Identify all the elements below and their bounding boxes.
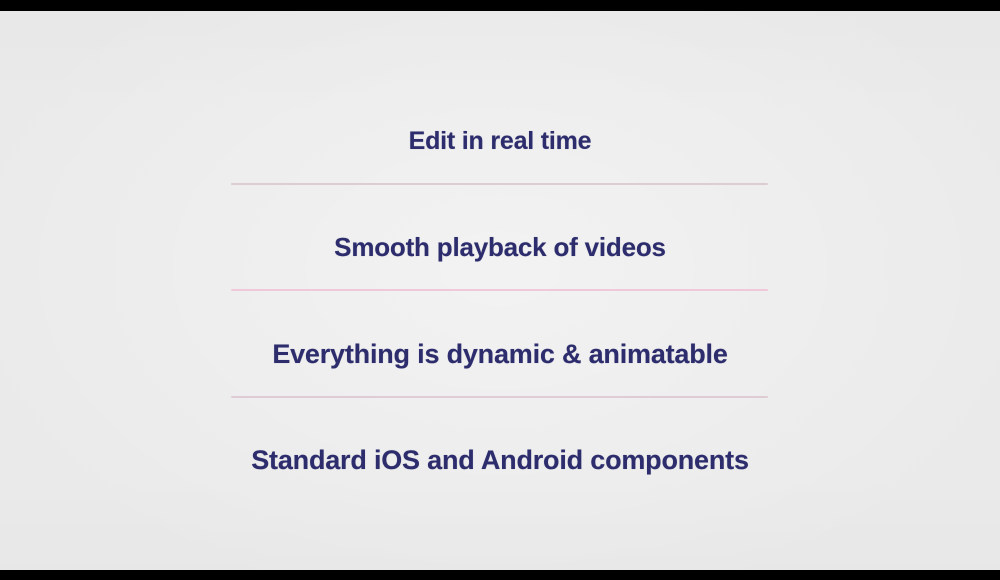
feature-list-item: Edit in real time: [0, 119, 1000, 163]
slide-canvas: Edit in real time Smooth playback of vid…: [0, 11, 1000, 570]
feature-label-everything-is-dynamic-and-animatable: Everything is dynamic & animatable: [272, 332, 727, 376]
feature-divider: [231, 396, 768, 398]
feature-divider: [231, 289, 768, 291]
feature-divider: [231, 183, 768, 185]
presentation-slide-frame: Edit in real time Smooth playback of vid…: [0, 0, 1000, 580]
feature-label-edit-in-real-time: Edit in real time: [409, 119, 592, 163]
letterbox-bar-bottom: [0, 570, 1000, 580]
feature-label-standard-ios-and-android-components: Standard iOS and Android components: [251, 438, 749, 482]
feature-list-item: Smooth playback of videos: [0, 225, 1000, 269]
feature-list-item: Standard iOS and Android components: [0, 438, 1000, 482]
feature-label-smooth-playback-of-videos: Smooth playback of videos: [334, 225, 666, 269]
letterbox-bar-top: [0, 0, 1000, 11]
feature-list-item: Everything is dynamic & animatable: [0, 332, 1000, 376]
feature-list: Edit in real time Smooth playback of vid…: [0, 11, 1000, 570]
